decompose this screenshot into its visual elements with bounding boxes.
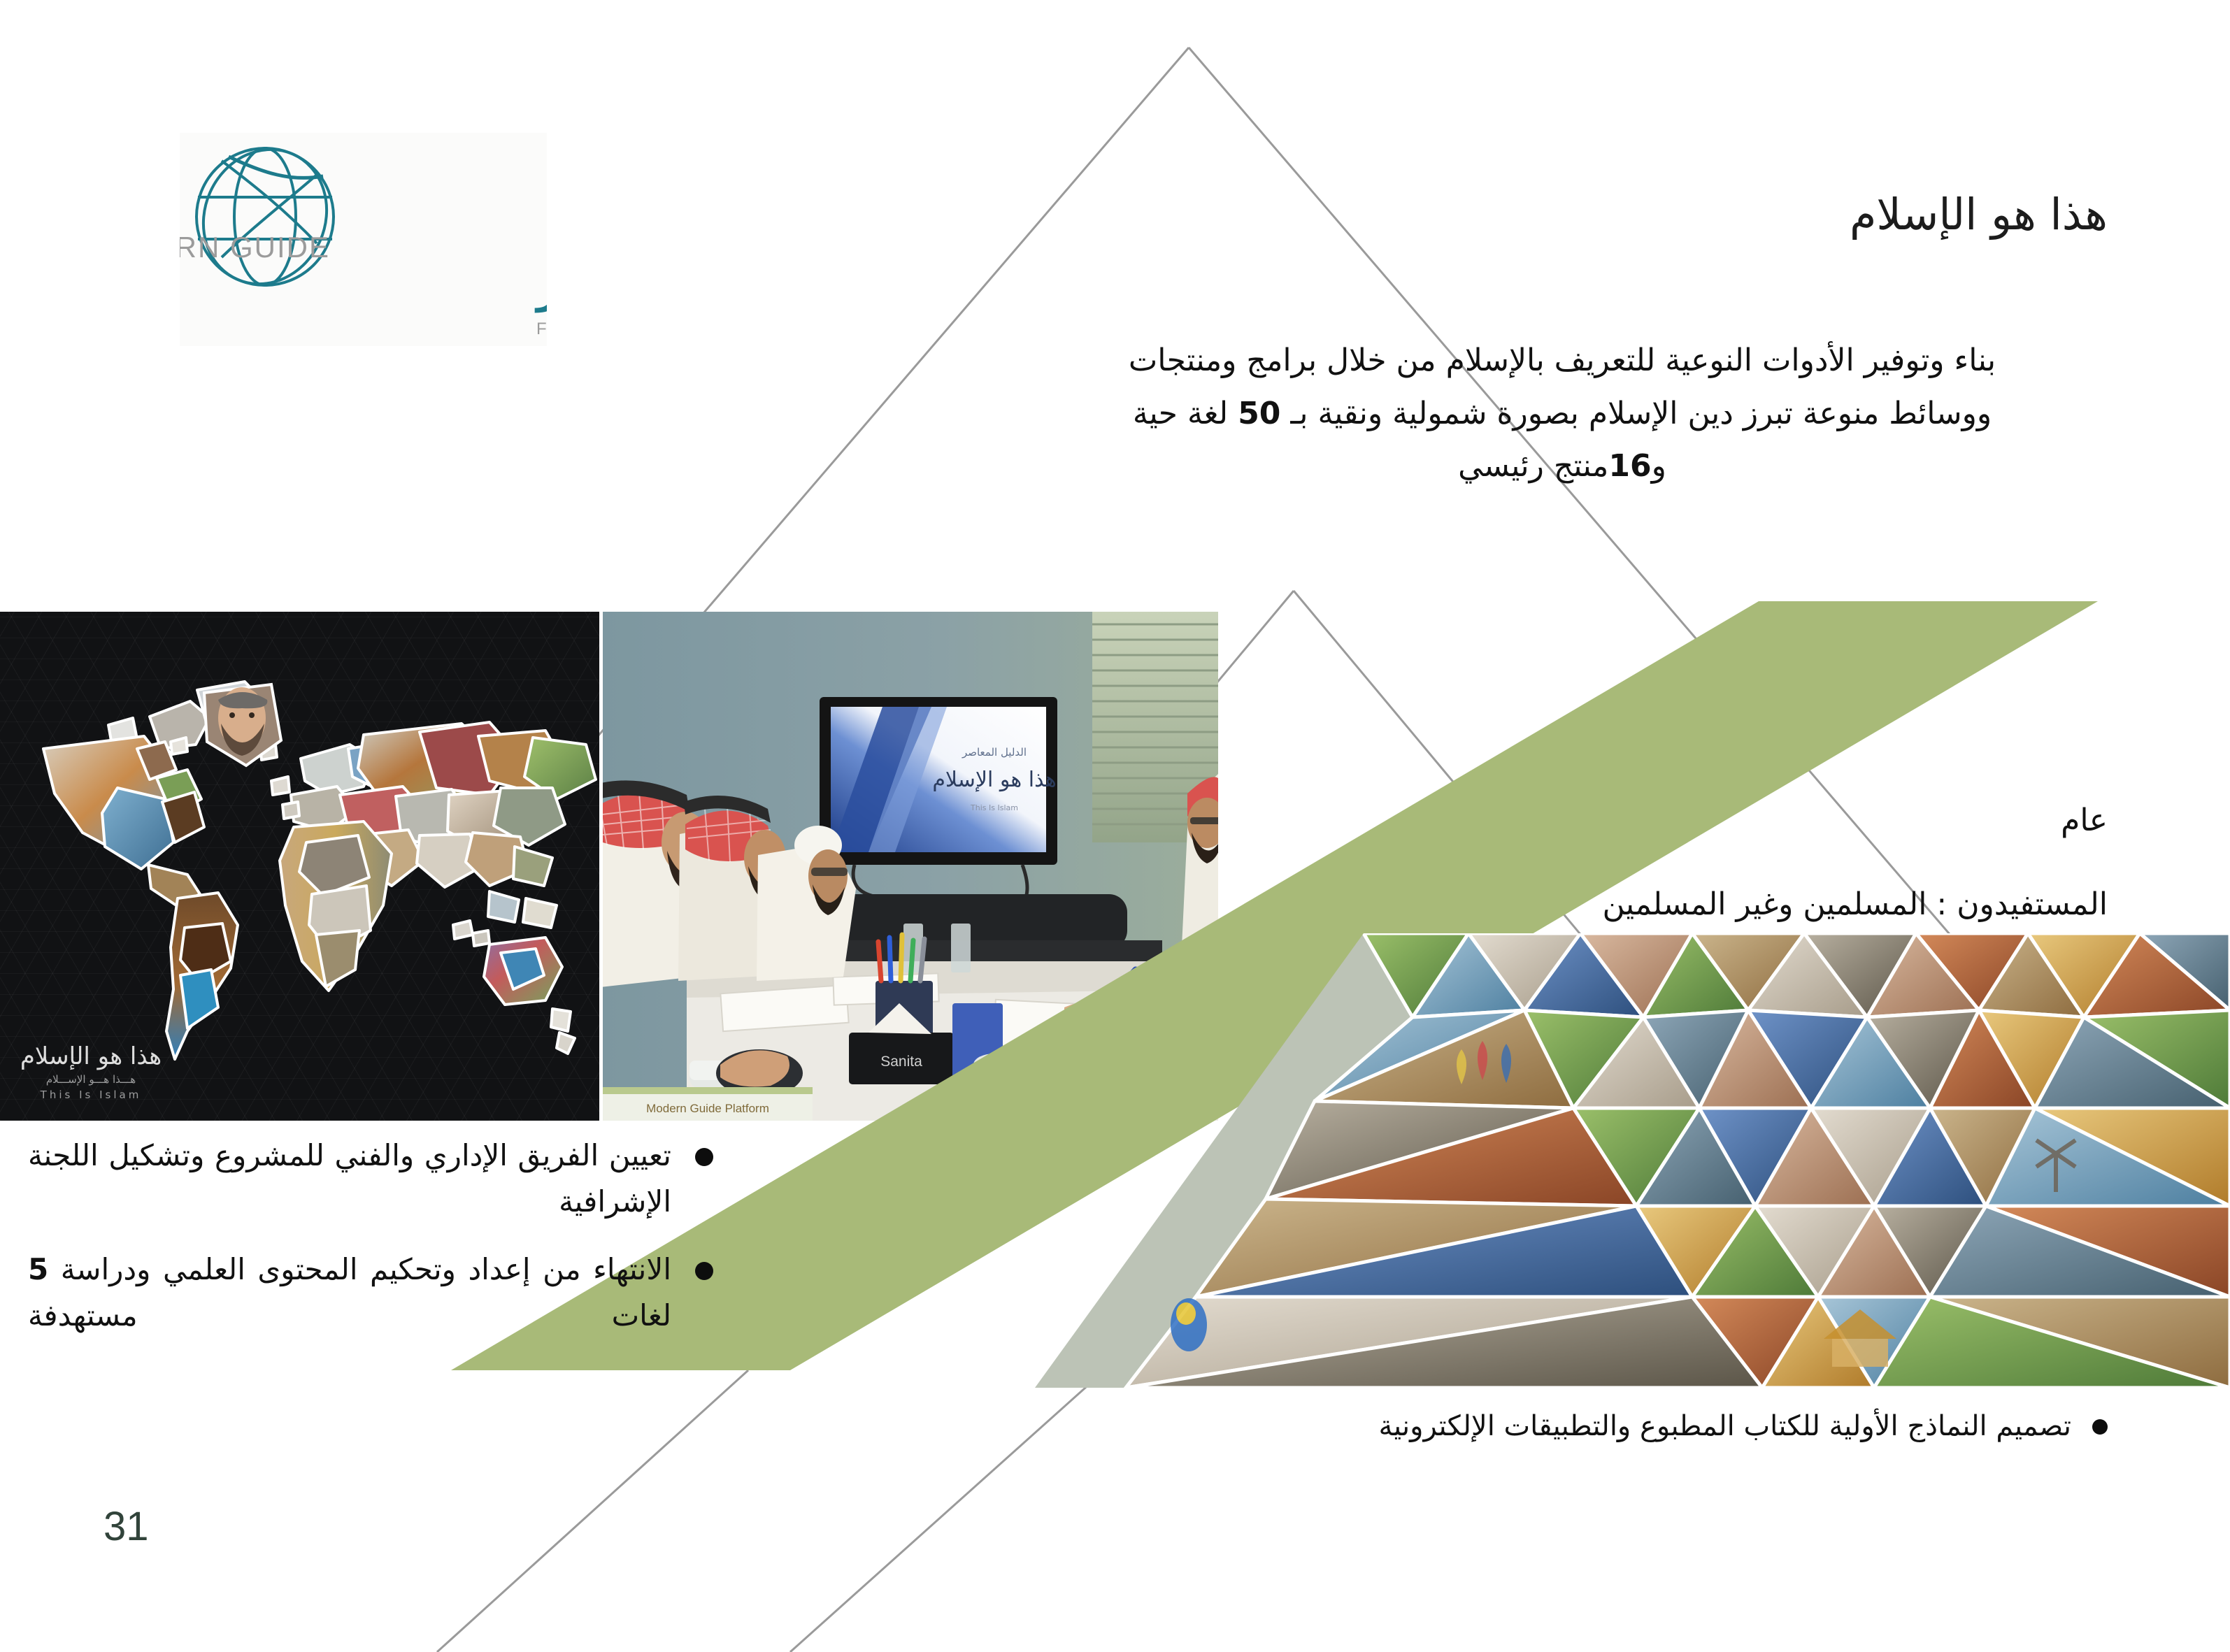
bottom-bullet-item: تصميم النماذج الأولية للكتاب المطبوع وال… [1379,1405,2108,1447]
intro-line-3-b: منتج رئيسي [1458,448,1608,484]
svg-text:الدليل المعاصر: الدليل المعاصر [962,746,1027,759]
world-map-collage-image: هذا هو الإسلام هـــذا هـــو الإســـلام T… [0,612,599,1121]
brand-arabic: هذا هو الإسلام [14,1044,168,1068]
svg-text:Modern Guide Platform: Modern Guide Platform [646,1102,769,1115]
list-item: تعيين الفريق الإداري والفني للمشروع وتشك… [28,1133,713,1226]
svg-text:This Is Islam: This Is Islam [970,803,1018,812]
intro-line-3: و16منتج رئيسي [1017,440,2108,493]
slide-page: MODERN GUIDE الدليل المعاصر For Informat… [0,0,2230,1652]
brand-arabic-small: هـــذا هـــو الإســـلام [14,1072,168,1087]
intro-line-2-a: ووسائط منوعة تبرز دين الإسلام بصورة شمول… [1280,396,1992,431]
bottom-bullet-text: تصميم النماذج الأولية للكتاب المطبوع وال… [1379,1405,2072,1447]
brand-english: This Is Islam [14,1089,168,1101]
bullet-text: الانتهاء من إعداد وتحكيم المحتوى العلمي … [28,1247,671,1339]
svg-text:هذا هو الإسلام: هذا هو الإسلام [932,768,1056,792]
caption-general: عام [2061,803,2108,838]
bullet-1-line-1: تعيين الفريق الإداري والفني للمشروع [215,1138,671,1172]
intro-languages-count: 50 [1238,396,1280,431]
intro-paragraph: بناء وتوفير الأدوات النوعية للتعريف بالإ… [1017,334,2108,493]
bullet-2-line-1: الانتهاء من إعداد وتحكيم المحتوى العلمي [163,1252,671,1286]
this-is-islam-brand: هذا هو الإسلام هـــذا هـــو الإســـلام T… [14,1044,168,1101]
intro-line-3-a: و [1652,448,1666,484]
logo-block: MODERN GUIDE الدليل المعاصر For Informat… [180,133,547,346]
mosaic-collage-image [1035,933,2230,1388]
list-item: الانتهاء من إعداد وتحكيم المحتوى العلمي … [28,1247,713,1339]
bullet-dot-icon [695,1262,713,1280]
triangular-photo-mosaic [1035,933,2230,1388]
svg-text:الدليل المعاصر: الدليل المعاصر [534,268,547,313]
bullet-dot-icon [2092,1419,2108,1435]
bullet-2-line-2-a: ودراسة [48,1252,150,1286]
intro-products-count: 16 [1608,448,1651,484]
bullet-2-line-2-b: لغات مستهدفة [28,1298,671,1333]
svg-text:MODERN GUIDE: MODERN GUIDE [180,231,330,264]
left-bullet-list: تعيين الفريق الإداري والفني للمشروع وتشك… [28,1133,713,1360]
intro-line-1: بناء وتوفير الأدوات النوعية للتعريف بالإ… [1017,334,2108,387]
bullet-dot-icon [695,1148,713,1166]
svg-text:For Information Technology: For Information Technology [536,319,547,338]
intro-line-2-b: لغة حية [1133,396,1238,431]
bullet-text: تعيين الفريق الإداري والفني للمشروع وتشك… [28,1133,671,1226]
modern-guide-logo-icon: MODERN GUIDE الدليل المعاصر For Informat… [180,133,547,346]
bullet-2-languages-count: 5 [28,1252,48,1286]
caption-beneficiaries: المستفيدون : المسلمين وغير المسلمين [1602,886,2108,922]
intro-line-2: ووسائط منوعة تبرز دين الإسلام بصورة شمول… [1017,387,2108,440]
svg-text:Sanita: Sanita [880,1054,922,1070]
page-title: هذا هو الإسلام [1850,187,2108,242]
page-number: 31 [103,1503,149,1550]
